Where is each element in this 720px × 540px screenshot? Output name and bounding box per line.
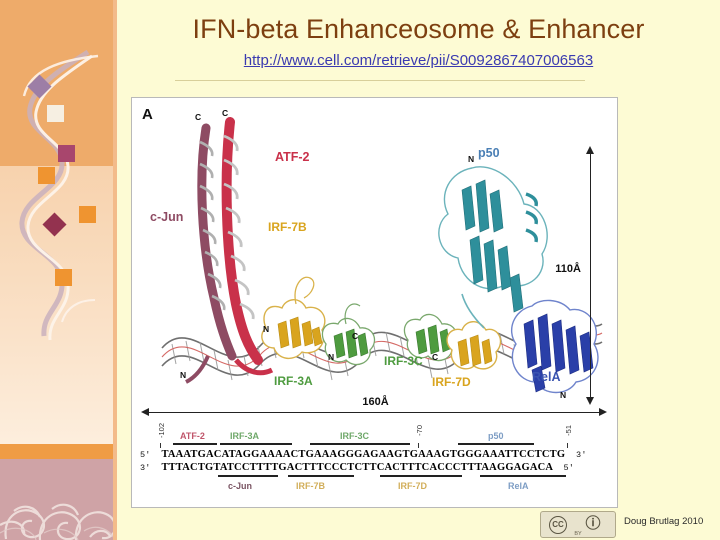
site-label-irf7b: IRF-7B xyxy=(296,481,325,491)
bottom-strand-row: 3' TTTACTGTATCCTTTTGACTTTCCCTCTTCACTTTCA… xyxy=(140,462,574,473)
protein-dna-ribbon-diagram xyxy=(132,98,618,398)
terminus-n-2: N xyxy=(263,324,269,334)
horizontal-scale-arrow xyxy=(148,412,600,413)
terminus-n-3: N xyxy=(328,352,334,362)
position-marker-102: -102 xyxy=(157,423,166,438)
terminus-c-2: C xyxy=(222,108,228,118)
five-prime-right: 5' xyxy=(563,463,574,473)
creative-commons-badge[interactable]: CC ⓘ BY xyxy=(540,511,616,538)
terminus-n-4: N xyxy=(468,154,474,164)
label-atf2: ATF-2 xyxy=(275,150,310,164)
top-strand-bases: TAAATGACATAGGAAAACTGAAAGGGAGAAGTGAAAGTGG… xyxy=(161,449,565,460)
slide-canvas: IFN-beta Enhanceosome & Enhancer http://… xyxy=(0,0,720,540)
site-bar-irf3c xyxy=(310,443,410,445)
label-p50: p50 xyxy=(478,146,500,160)
sidebar-chip-5 xyxy=(79,206,96,223)
top-strand-row: 5' TAAATGACATAGGAAAACTGAAAGGGAGAAGTGAAAG… xyxy=(140,449,587,460)
terminus-c-4: C xyxy=(432,352,438,362)
label-irf7b: IRF-7B xyxy=(268,220,307,234)
terminus-n-1: N xyxy=(180,370,186,380)
position-tick-70 xyxy=(418,443,419,448)
vertical-scale-arrow xyxy=(590,153,591,398)
irf7b-domain xyxy=(262,277,325,358)
site-bar-cjun xyxy=(218,475,278,477)
label-irf3a: IRF-3A xyxy=(274,374,313,388)
position-tick-51 xyxy=(567,443,568,448)
site-bar-atf2 xyxy=(173,443,217,445)
page-title: IFN-beta Enhanceosome & Enhancer xyxy=(117,14,720,45)
label-rela: RelA xyxy=(532,370,560,384)
sidebar-chip-4 xyxy=(38,167,55,184)
site-bar-rela xyxy=(480,475,566,477)
sidebar-chip-3 xyxy=(58,145,75,162)
label-irf7d: IRF-7D xyxy=(432,375,471,389)
terminus-c-1: C xyxy=(195,112,201,122)
vertical-scale-label: 110Å xyxy=(555,263,581,275)
three-prime-left: 3' xyxy=(140,463,151,473)
cc-by-label: BY xyxy=(541,531,615,537)
author-credit: Doug Brutlag 2010 xyxy=(624,516,703,527)
cc-by-person-icon: ⓘ xyxy=(585,516,601,532)
source-url-link[interactable]: http://www.cell.com/retrieve/pii/S009286… xyxy=(117,52,720,69)
site-bar-irf7b xyxy=(288,475,354,477)
site-bar-p50 xyxy=(458,443,534,445)
site-label-cjun: c-Jun xyxy=(228,481,252,491)
sidebar-chip-2 xyxy=(47,105,64,122)
terminus-c-3: C xyxy=(352,331,358,341)
title-divider xyxy=(175,80,585,81)
position-marker-51: -51 xyxy=(564,425,573,436)
enhanceosome-figure: A xyxy=(131,97,618,508)
p50-domain xyxy=(439,167,547,328)
irf7d-domain xyxy=(447,322,500,369)
label-cjun: c-Jun xyxy=(150,210,183,224)
site-label-irf7d: IRF-7D xyxy=(398,481,427,491)
five-prime-left: 5' xyxy=(140,450,151,460)
site-label-p50: p50 xyxy=(488,431,504,441)
site-label-irf3a: IRF-3A xyxy=(230,431,259,441)
dna-sequence-block: -102 -70 -51 ATF-2 IRF-3A IRF-3C p50 5' … xyxy=(140,423,611,501)
site-label-rela: RelA xyxy=(508,481,529,491)
site-bar-irf3a xyxy=(220,443,292,445)
sidebar-chip-7 xyxy=(55,269,72,286)
position-tick-102 xyxy=(160,443,161,448)
three-prime-right: 3' xyxy=(576,450,587,460)
decorative-sidebar xyxy=(0,0,117,540)
horizontal-scale-label: 160Å xyxy=(132,396,618,408)
site-label-atf2: ATF-2 xyxy=(180,431,205,441)
site-label-irf3c: IRF-3C xyxy=(340,431,369,441)
position-marker-70: -70 xyxy=(415,425,424,436)
site-bar-irf7d xyxy=(380,475,462,477)
bottom-strand-bases: TTTACTGTATCCTTTTGACTTTCCCTCTTCACTTTCACCC… xyxy=(161,462,552,473)
label-irf3c: IRF-3C xyxy=(384,354,423,368)
